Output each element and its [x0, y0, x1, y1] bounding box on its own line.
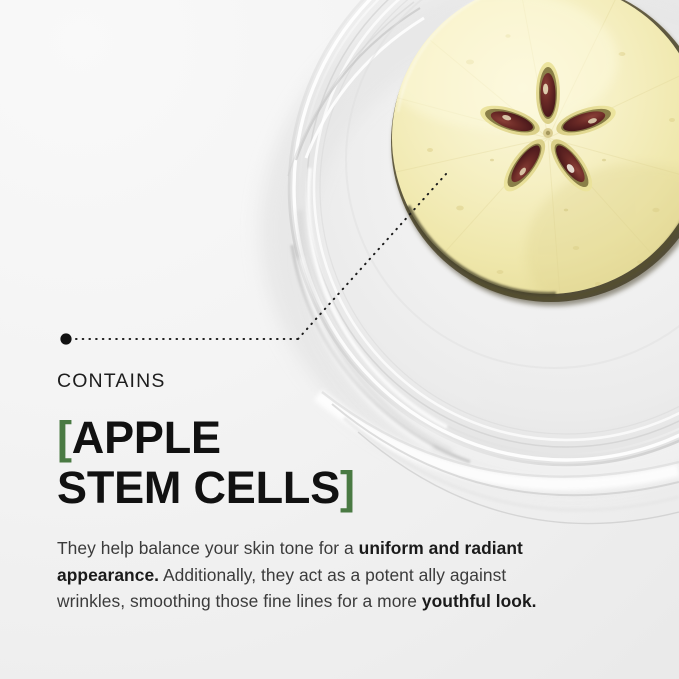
headline-word-stem-cells: STEM CELLS: [57, 462, 340, 513]
headline-line-1: [APPLE: [57, 413, 577, 463]
body-run-0: They help balance your skin tone for a: [57, 538, 359, 558]
infographic-canvas: CONTAINS [APPLE STEM CELLS] They help ba…: [0, 0, 679, 679]
headline-line-2: STEM CELLS]: [57, 463, 577, 513]
bracket-open: [: [57, 412, 72, 463]
body-paragraph: They help balance your skin tone for a u…: [57, 535, 557, 614]
headline-word-apple: APPLE: [72, 412, 221, 463]
copy-block: CONTAINS [APPLE STEM CELLS] They help ba…: [57, 372, 577, 615]
headline: [APPLE STEM CELLS]: [57, 413, 577, 514]
leader-diagonal-segment: [298, 174, 446, 339]
body-run-3: youthful look.: [422, 591, 537, 611]
bracket-close: ]: [340, 462, 355, 513]
eyebrow-label: CONTAINS: [57, 372, 577, 392]
leader-anchor-dot: [60, 333, 71, 344]
